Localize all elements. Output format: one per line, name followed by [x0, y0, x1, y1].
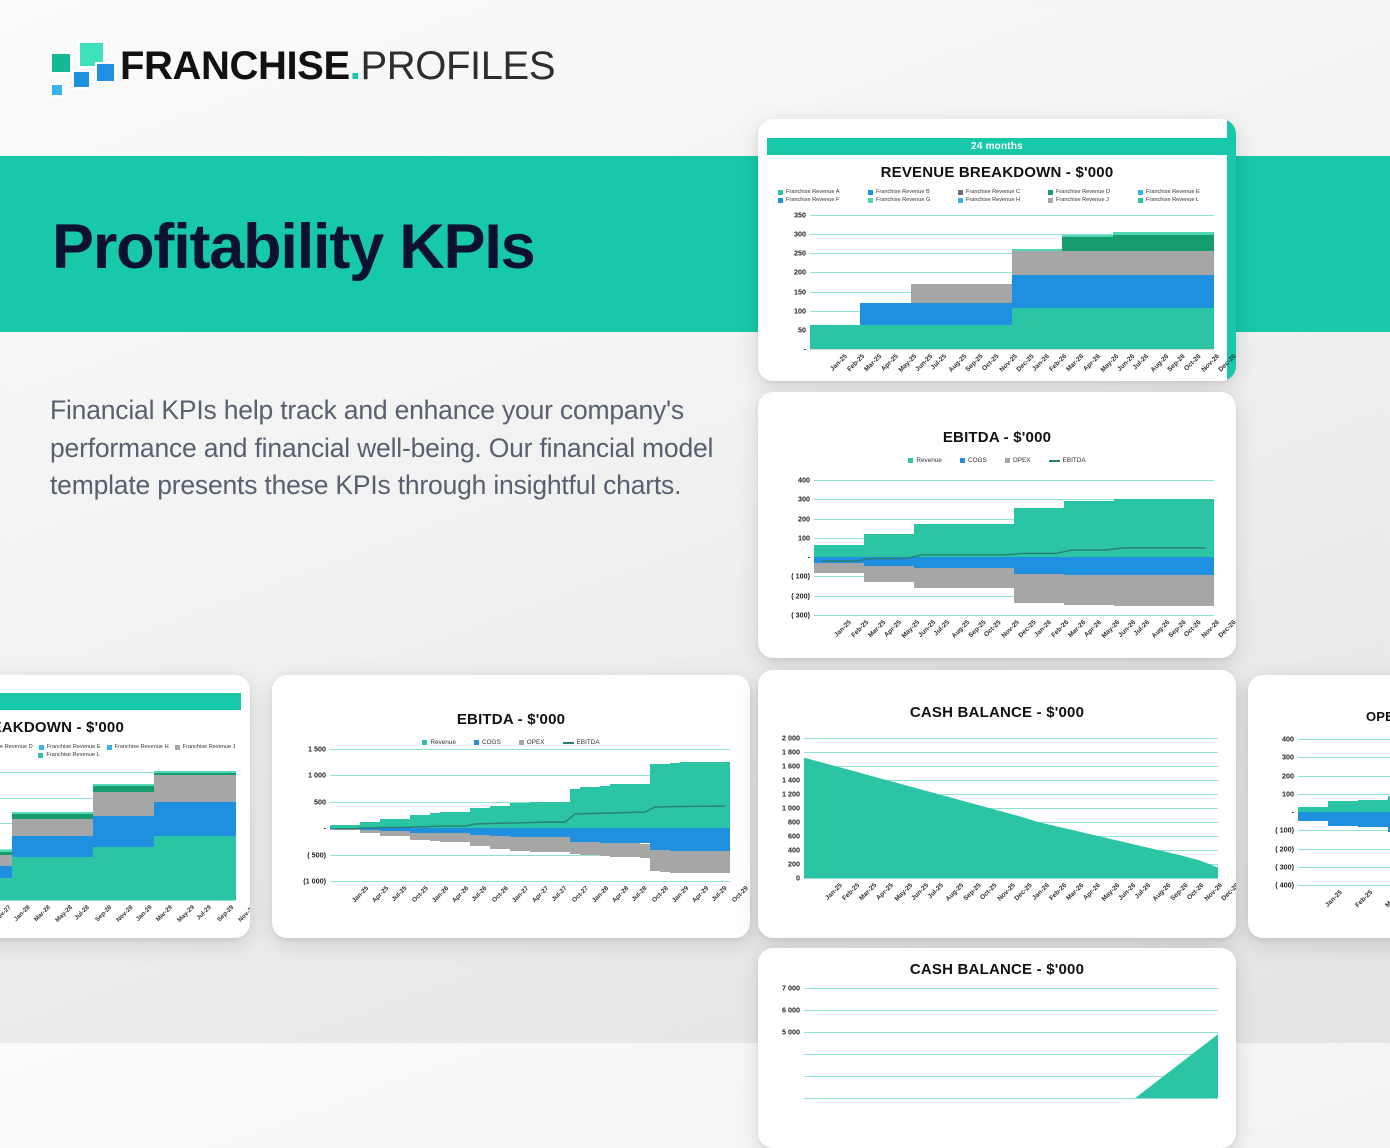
bar-segment [420, 815, 430, 828]
bar-column[interactable] [540, 749, 550, 881]
bar-segment [216, 773, 226, 775]
card-accent-edge [1227, 119, 1236, 381]
brand-wordmark: FRANCHISE.PROFILES [120, 46, 555, 86]
bar-column[interactable] [83, 772, 93, 900]
bar-column[interactable] [1298, 739, 1328, 885]
bar-column[interactable] [995, 215, 1012, 349]
bar-column[interactable] [1079, 215, 1096, 349]
bar-segment [530, 837, 540, 852]
bar-column[interactable] [410, 749, 420, 881]
bar-column[interactable] [710, 749, 720, 881]
bar-column[interactable] [1064, 480, 1081, 615]
bar-segment [1064, 501, 1081, 557]
bar-column[interactable] [1164, 480, 1181, 615]
logo-squares-icon [48, 40, 106, 92]
bar-column[interactable] [1147, 480, 1164, 615]
bar-segment [630, 784, 640, 828]
bar-column[interactable] [914, 480, 931, 615]
bar-column[interactable] [580, 749, 590, 881]
x-axis-tick: Oct-25 [411, 885, 430, 904]
x-axis-tick: Jan-29 [671, 885, 690, 904]
bar-group [330, 749, 730, 881]
bar-segment [154, 775, 164, 803]
x-axis-tick: Feb-25 [1354, 889, 1374, 909]
bar-segment [530, 828, 540, 837]
bar-column[interactable] [450, 749, 460, 881]
bar-column[interactable] [1062, 215, 1079, 349]
legend-item: OPEX [519, 739, 545, 746]
bar-segment [590, 842, 600, 855]
bar-column[interactable] [1181, 480, 1198, 615]
bar-segment [560, 837, 570, 852]
bar-segment [43, 857, 53, 900]
bar-segment [360, 830, 370, 833]
card-ebitda-5y[interactable]: EBITDA - $'000 RevenueCOGSOPEXEBITDA 1 5… [272, 675, 750, 938]
bar-segment [1113, 308, 1130, 349]
x-axis-tick: Oct-29 [731, 885, 750, 904]
x-axis-tick: Feb-26 [1050, 619, 1070, 639]
bar-segment [43, 812, 53, 814]
x-axis-tick: May-29 [176, 904, 196, 924]
bar-segment [690, 828, 700, 851]
bar-segment [877, 303, 894, 325]
legend-swatch [519, 740, 524, 745]
bar-column[interactable] [1114, 480, 1131, 615]
legend-label: Franchise Revenue E [47, 744, 101, 750]
bar-segment [2, 850, 12, 852]
x-axis-tick: Oct-26 [491, 885, 510, 904]
bar-column[interactable] [964, 480, 981, 615]
bar-column[interactable] [670, 749, 680, 881]
bar-column[interactable] [165, 772, 175, 900]
bar-segment [114, 816, 124, 846]
x-axis-tick: Mar-25 [858, 882, 878, 902]
legend-label: Franchise Revenue A [786, 189, 839, 195]
bar-segment [831, 563, 848, 573]
bar-segment [1113, 235, 1130, 252]
bar-column[interactable] [560, 749, 570, 881]
bar-segment [83, 819, 93, 836]
bar-segment [911, 325, 928, 349]
bar-segment [185, 836, 195, 900]
card-cash-balance-5y[interactable]: CASH BALANCE - $'000 7 0006 0005 000 [758, 948, 1236, 1148]
y-axis-tick: 250 [794, 249, 810, 258]
bar-segment [1114, 557, 1131, 575]
bar-segment [911, 284, 928, 303]
bar-segment [928, 303, 945, 325]
bar-segment [460, 833, 470, 841]
gridline [1298, 885, 1390, 886]
bar-segment [844, 325, 861, 349]
bar-segment [1047, 508, 1064, 557]
bar-column[interactable] [480, 749, 490, 881]
x-axis-tick: Mar-28 [33, 904, 52, 923]
bar-column[interactable] [350, 749, 360, 881]
bar-segment [1147, 235, 1164, 252]
bar-segment [195, 771, 205, 772]
bar-segment [480, 835, 490, 846]
bar-column[interactable] [660, 749, 670, 881]
bar-column[interactable] [400, 749, 410, 881]
bar-column[interactable] [124, 772, 134, 900]
bar-column[interactable] [680, 749, 690, 881]
bar-column[interactable] [947, 480, 964, 615]
bar-segment [1046, 275, 1063, 308]
bar-segment [43, 814, 53, 819]
bar-column[interactable] [490, 749, 500, 881]
chart-title-revenue-breakdown-5y: REAKDOWN - $'000 [0, 719, 250, 736]
bar-column[interactable] [600, 749, 610, 881]
x-axis-tick: Jan-29 [135, 904, 154, 923]
bar-column[interactable] [894, 215, 911, 349]
bar-column[interactable] [720, 749, 730, 881]
bar-column[interactable] [144, 772, 154, 900]
bar-segment [22, 836, 32, 857]
x-axis-tick: Jan-28 [13, 904, 32, 923]
x-axis-tick: Feb-25 [850, 619, 870, 639]
bar-column[interactable] [1147, 215, 1164, 349]
bar-column[interactable] [978, 215, 995, 349]
bar-column[interactable] [1197, 480, 1214, 615]
bar-column[interactable] [961, 215, 978, 349]
bar-segment [1081, 575, 1098, 605]
bar-column[interactable] [1012, 215, 1029, 349]
legend-swatch [422, 740, 427, 745]
x-axis-tick: Dec-25 [1017, 619, 1037, 639]
bar-segment [710, 851, 720, 873]
bar-segment [981, 524, 998, 557]
bar-column[interactable] [630, 749, 640, 881]
bar-segment [670, 763, 680, 828]
bar-segment [1081, 557, 1098, 575]
chart-title-ebitda-24m: EBITDA - $'000 [758, 429, 1236, 446]
x-axis-tick: Dec-25 [1014, 882, 1034, 902]
bar-segment [640, 784, 650, 828]
x-axis-tick: Apr-25 [883, 619, 903, 639]
bar-segment [1131, 557, 1148, 575]
bar-column[interactable] [440, 749, 450, 881]
bar-segment [961, 284, 978, 303]
bar-column[interactable] [63, 772, 73, 900]
x-axis-tick: Sep-26 [1169, 882, 1189, 902]
legend-swatch [1049, 460, 1060, 462]
bar-segment [978, 325, 995, 349]
bar-column[interactable] [897, 480, 914, 615]
bar-column[interactable] [380, 749, 390, 881]
bar-segment [1029, 275, 1046, 308]
bar-segment [947, 524, 964, 557]
plot-ebitda-24m: 400300200100-( 100)( 200)( 300)Jan-25Feb… [814, 480, 1214, 615]
bar-segment [1163, 251, 1180, 274]
bar-column[interactable] [53, 772, 63, 900]
bar-column[interactable] [1081, 480, 1098, 615]
bar-column[interactable] [997, 480, 1014, 615]
bar-column[interactable] [175, 772, 185, 900]
logo-square-4 [95, 62, 116, 83]
bar-column[interactable] [1163, 215, 1180, 349]
bar-segment [814, 545, 831, 557]
y-axis-tick: 300 [798, 495, 814, 504]
legend-item: Franchise Revenue A [772, 189, 862, 195]
bar-column[interactable] [226, 772, 236, 900]
bar-column[interactable] [1096, 215, 1113, 349]
bar-segment [860, 325, 877, 349]
bar-column[interactable] [520, 749, 530, 881]
bar-column[interactable] [931, 480, 948, 615]
bar-column[interactable] [360, 749, 370, 881]
legend-label: Franchise Revenue E [1146, 189, 1200, 195]
y-axis-tick: 200 [794, 268, 810, 277]
bar-segment [1130, 275, 1147, 308]
bar-segment [490, 806, 500, 829]
bar-column[interactable] [430, 749, 440, 881]
card-ebitda-24m[interactable]: EBITDA - $'000 RevenueCOGSOPEXEBITDA 400… [758, 392, 1236, 658]
bar-column[interactable] [690, 749, 700, 881]
bar-column[interactable] [844, 215, 861, 349]
bar-segment [165, 771, 175, 772]
bar-segment [1114, 575, 1131, 606]
bar-segment [997, 568, 1014, 587]
bar-column[interactable] [390, 749, 400, 881]
legend-item: Franchise Revenue D [0, 744, 33, 750]
bar-column[interactable] [1131, 480, 1148, 615]
bar-column[interactable] [195, 772, 205, 900]
bar-column[interactable] [510, 749, 520, 881]
bar-column[interactable] [340, 749, 350, 881]
legend-label: OPEX [1013, 457, 1031, 464]
bar-group [814, 480, 1214, 615]
bar-segment [710, 762, 720, 828]
bar-column[interactable] [945, 215, 962, 349]
brand-logo: FRANCHISE.PROFILES [48, 40, 555, 92]
bar-segment [22, 857, 32, 900]
bar-segment [83, 857, 93, 900]
x-axis-tick: Jul-27 [550, 885, 568, 903]
x-axis-tick: Nov-26 [1200, 619, 1221, 640]
bar-segment [680, 828, 690, 851]
bar-column[interactable] [1180, 215, 1197, 349]
bar-segment [1029, 249, 1046, 251]
bar-segment [144, 792, 154, 817]
bar-segment [1113, 275, 1130, 308]
x-axis-tick: Jul-29 [195, 904, 213, 922]
legend-item: Franchise Revenue L [1132, 197, 1222, 203]
bar-column[interactable] [216, 772, 226, 900]
bar-column[interactable] [32, 772, 42, 900]
bar-column[interactable] [12, 772, 22, 900]
bar-column[interactable] [1031, 480, 1048, 615]
bar-segment [134, 847, 144, 900]
bar-segment [73, 836, 83, 857]
bar-segment [32, 857, 42, 900]
bar-column[interactable] [154, 772, 164, 900]
bar-segment [995, 303, 1012, 325]
bar-column[interactable] [1113, 215, 1130, 349]
bar-segment [1328, 812, 1358, 826]
bar-column[interactable] [470, 749, 480, 881]
legend-item: OPEX [1005, 457, 1031, 464]
legend-item: Franchise Revenue H [952, 197, 1042, 203]
bar-column[interactable] [1046, 215, 1063, 349]
bar-segment [1164, 575, 1181, 606]
card-cash-balance-24m[interactable]: CASH BALANCE - $'000 2 0001 8001 6001 40… [758, 670, 1236, 938]
bar-segment [1197, 499, 1214, 557]
bar-segment [945, 303, 962, 325]
legend-item: COGS [474, 739, 501, 746]
bar-segment [73, 857, 83, 900]
x-axis-tick: Jul-25 [927, 882, 945, 900]
bar-column[interactable] [500, 749, 510, 881]
bar-segment [1062, 275, 1079, 308]
bar-column[interactable] [73, 772, 83, 900]
bar-segment [931, 524, 948, 557]
bar-segment [43, 836, 53, 857]
card-opex-partial[interactable]: OPE 400300200100-( 100)( 200)( 300)( 400… [1248, 675, 1390, 938]
bar-segment [1031, 574, 1048, 603]
bar-segment [500, 806, 510, 829]
bar-segment [560, 828, 570, 837]
bar-segment [1046, 308, 1063, 349]
bar-column[interactable] [847, 480, 864, 615]
bar-segment [175, 773, 185, 775]
bar-column[interactable] [1097, 480, 1114, 615]
bar-column[interactable] [911, 215, 928, 349]
bar-segment [1197, 557, 1214, 575]
bar-column[interactable] [550, 749, 560, 881]
bar-segment [195, 836, 205, 900]
y-axis-tick: 50 [798, 325, 810, 334]
x-axis-tick: Mar-26 [1065, 353, 1085, 373]
bar-column[interactable] [1358, 739, 1388, 885]
bar-column[interactable] [928, 215, 945, 349]
bar-segment [914, 524, 931, 557]
bar-segment [400, 819, 410, 828]
bar-column[interactable] [650, 749, 660, 881]
bar-column[interactable] [864, 480, 881, 615]
bar-column[interactable] [860, 215, 877, 349]
legend-item: Franchise Revenue E [1132, 189, 1222, 195]
bar-segment [810, 325, 827, 349]
legend-swatch [868, 198, 873, 203]
bar-column[interactable] [22, 772, 32, 900]
bar-segment [154, 802, 164, 836]
bar-column[interactable] [981, 480, 998, 615]
bar-column[interactable] [640, 749, 650, 881]
bar-segment [22, 814, 32, 819]
bar-column[interactable] [590, 749, 600, 881]
bar-column[interactable] [104, 772, 114, 900]
bar-segment [12, 857, 22, 900]
bar-segment [460, 812, 470, 828]
bar-column[interactable] [185, 772, 195, 900]
bar-segment [490, 836, 500, 849]
bar-column[interactable] [1047, 480, 1064, 615]
bar-segment [1062, 308, 1079, 349]
bar-segment [1131, 499, 1148, 557]
bar-column[interactable] [2, 772, 12, 900]
bar-segment [370, 830, 380, 833]
bar-segment [1147, 557, 1164, 575]
bar-column[interactable] [93, 772, 103, 900]
bar-segment [620, 828, 630, 843]
card-revenue-breakdown-5y[interactable]: 5 years REAKDOWN - $'000 Franchise Reven… [0, 675, 250, 938]
bar-group [0, 772, 236, 900]
legend-ebitda-5y: RevenueCOGSOPEXEBITDA [272, 739, 750, 746]
bar-segment [720, 851, 730, 873]
bar-column[interactable] [330, 749, 340, 881]
bar-column[interactable] [1014, 480, 1031, 615]
x-axis-tick: Feb-26 [1048, 882, 1068, 902]
bar-column[interactable] [610, 749, 620, 881]
bar-column[interactable] [1328, 739, 1358, 885]
y-axis-tick: 1 000 [782, 804, 804, 813]
bar-column[interactable] [370, 749, 380, 881]
bar-column[interactable] [420, 749, 430, 881]
bar-segment [12, 819, 22, 836]
bar-segment [1130, 251, 1147, 274]
intro-paragraph: Financial KPIs help track and enhance yo… [50, 392, 730, 505]
x-axis-tick: Feb-25 [841, 882, 861, 902]
bar-column[interactable] [1130, 215, 1147, 349]
bar-column[interactable] [530, 749, 540, 881]
bar-segment [1358, 812, 1388, 827]
bar-segment [1163, 275, 1180, 308]
bar-column[interactable] [1029, 215, 1046, 349]
bar-column[interactable] [460, 749, 470, 881]
bar-segment [165, 802, 175, 836]
bar-column[interactable] [114, 772, 124, 900]
bar-segment [114, 792, 124, 817]
bar-column[interactable] [700, 749, 710, 881]
bar-segment [570, 789, 580, 829]
bar-segment [1180, 235, 1197, 252]
bar-segment [997, 557, 1014, 568]
bar-segment [1180, 232, 1197, 235]
bar-column[interactable] [1197, 215, 1214, 349]
bar-segment [1147, 308, 1164, 349]
bar-segment [124, 784, 134, 786]
bar-segment [205, 802, 215, 836]
card-revenue-breakdown-24m[interactable]: 24 months REVENUE BREAKDOWN - $'000 Fran… [758, 119, 1236, 381]
bar-column[interactable] [831, 480, 848, 615]
legend-swatch [1048, 198, 1053, 203]
x-axis-tick: Mar-26 [1067, 619, 1087, 639]
bar-segment [945, 284, 962, 303]
bar-column[interactable] [827, 215, 844, 349]
brand-name-light: PROFILES [360, 44, 555, 88]
bar-column[interactable] [810, 215, 827, 349]
bar-segment [831, 545, 848, 557]
bar-segment [914, 568, 931, 587]
y-axis-tick: ( 200) [791, 591, 814, 600]
legend-swatch [38, 753, 43, 758]
bar-column[interactable] [620, 749, 630, 881]
bar-segment [1197, 275, 1214, 308]
bar-column[interactable] [205, 772, 215, 900]
bar-segment [93, 784, 103, 786]
bar-column[interactable] [134, 772, 144, 900]
bar-column[interactable] [881, 480, 898, 615]
bar-segment [1147, 499, 1164, 557]
legend-revenue-series-5y: Franchise Revenue CFranchise Revenue DFr… [0, 743, 240, 759]
bar-column[interactable] [814, 480, 831, 615]
bar-column[interactable] [570, 749, 580, 881]
legend-swatch [958, 198, 963, 203]
bar-segment [947, 557, 964, 568]
bar-segment [981, 568, 998, 587]
bar-column[interactable] [877, 215, 894, 349]
bar-column[interactable] [43, 772, 53, 900]
